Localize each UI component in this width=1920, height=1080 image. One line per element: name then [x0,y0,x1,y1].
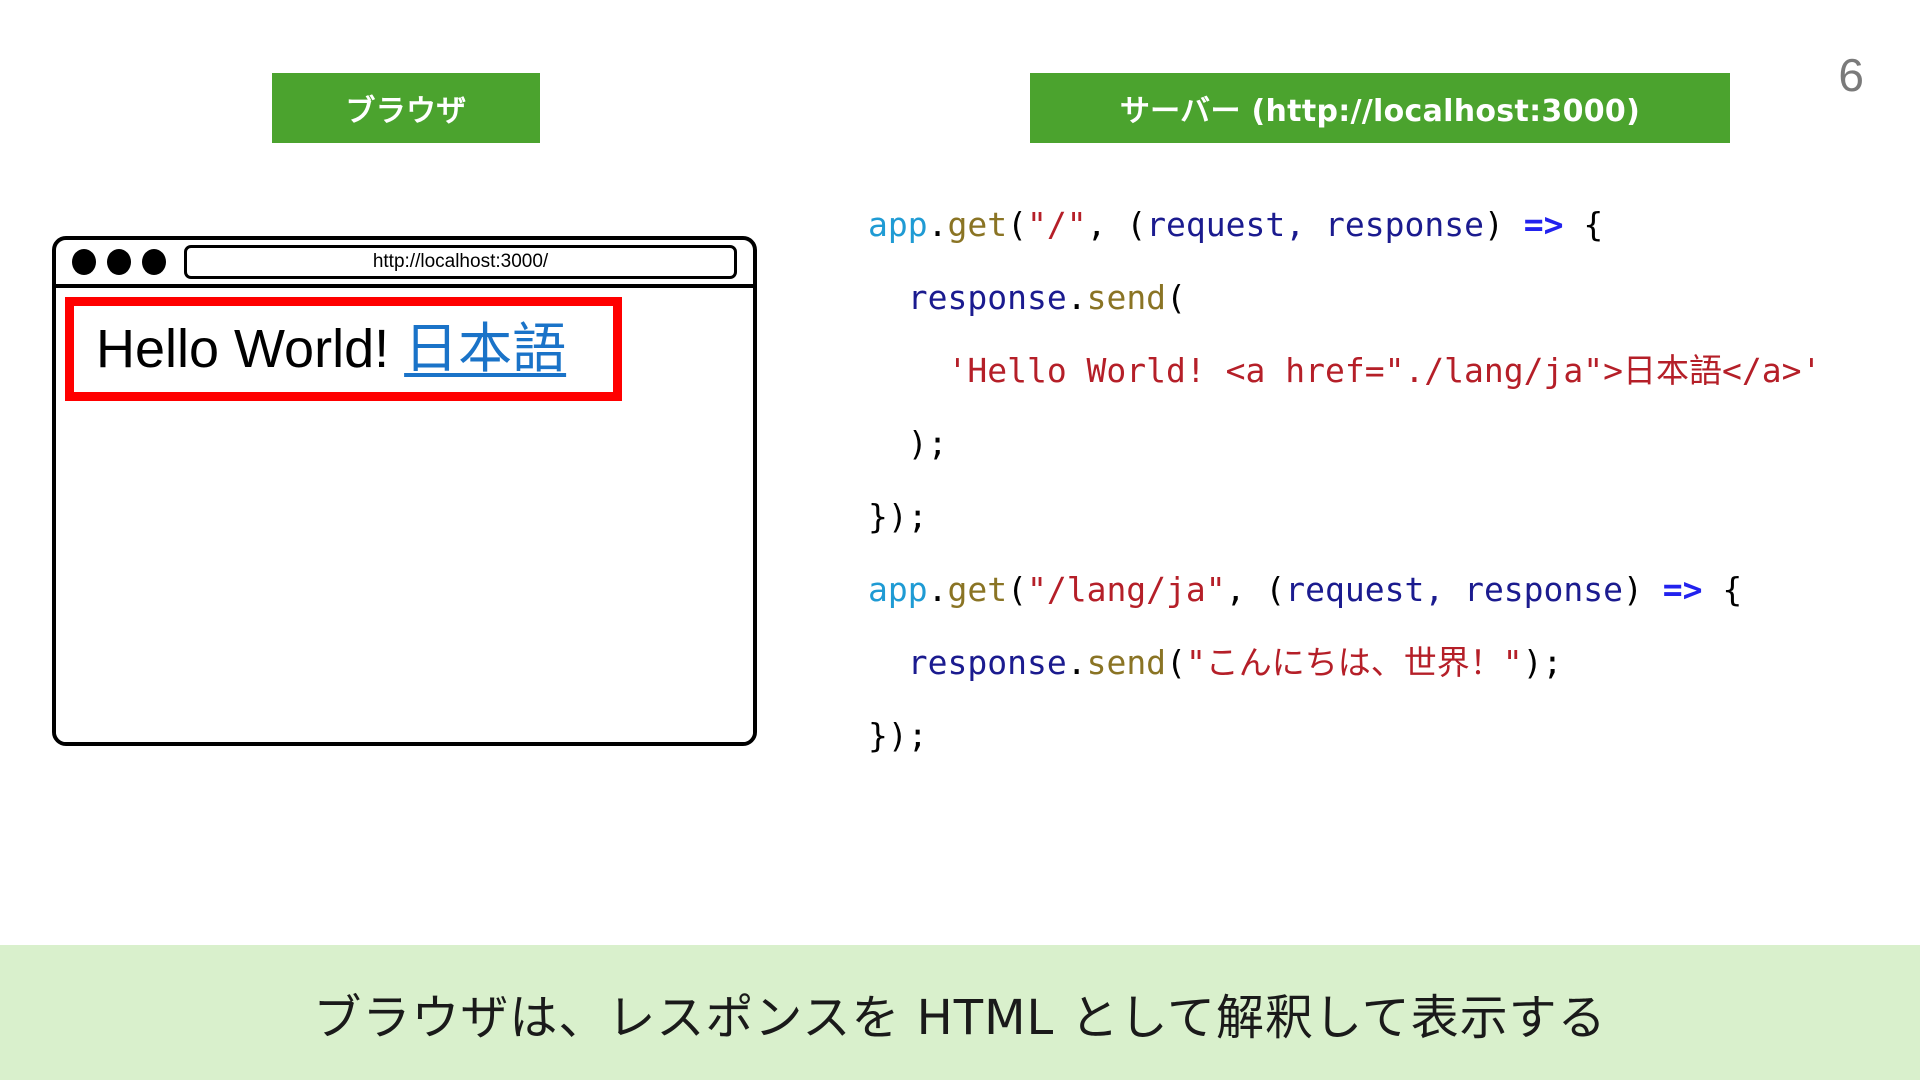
code-line: app.get("/lang/ja", (request, response) … [868,553,1821,626]
code-token-str: "こんにちは、世界！" [1186,643,1523,682]
code-token-obj: app [868,570,928,609]
code-token-param: response [908,278,1067,317]
code-line: response.send( [868,261,1821,334]
code-token-punc: ( [1166,278,1186,317]
rendered-page-content: Hello World! 日本語 [96,322,566,376]
code-token-punc: ( [1166,643,1186,682]
caption-band: ブラウザは、レスポンスを HTML として解釈して表示する [0,945,1920,1080]
code-token-fn: send [1087,278,1166,317]
code-indent [868,278,908,317]
code-line: }); [868,480,1821,553]
server-code-block: app.get("/", (request, response) => { re… [868,188,1821,772]
code-token-punc: { [1703,570,1743,609]
code-token-str: "/lang/ja" [1027,570,1226,609]
browser-section-chip: ブラウザ [272,73,540,143]
code-token-dot: . [1067,278,1087,317]
code-token-str: 'Hello World! <a href="./lang/ja">日本語</a… [947,351,1821,390]
code-token-str: "/" [1027,205,1087,244]
maximize-dot-icon[interactable] [142,249,166,275]
minimize-dot-icon[interactable] [107,249,131,275]
close-dot-icon[interactable] [72,249,96,275]
code-token-dot: . [1067,643,1087,682]
code-line: app.get("/", (request, response) => { [868,188,1821,261]
browser-viewport: Hello World! 日本語 [56,288,753,746]
rendered-text: Hello World! [96,319,404,379]
window-control-dots [72,249,166,275]
server-section-chip: サーバー (http://localhost:3000) [1030,73,1730,143]
code-token-punc: ); [908,424,948,463]
code-indent [868,424,908,463]
code-line: 'Hello World! <a href="./lang/ja">日本語</a… [868,334,1821,407]
code-token-punc: ); [1523,643,1563,682]
code-token-param: response [908,643,1067,682]
code-token-punc: , ( [1087,205,1147,244]
page-number: 6 [1838,52,1864,98]
code-token-punc: }); [868,497,928,536]
code-token-arrow: => [1663,570,1703,609]
code-token-arrow: => [1524,205,1564,244]
rendered-anchor-link[interactable]: 日本語 [404,317,566,380]
code-indent [868,351,947,390]
code-token-fn: get [947,570,1007,609]
code-token-dot: . [928,205,948,244]
address-bar-value: http://localhost:3000/ [373,251,548,273]
code-token-punc: ( [1007,205,1027,244]
browser-window-mockup: http://localhost:3000/ Hello World! 日本語 [52,236,757,746]
code-token-punc: ) [1623,570,1663,609]
code-token-obj: app [868,205,928,244]
rendered-output-highlight: Hello World! 日本語 [65,297,622,401]
code-token-punc: ) [1484,205,1524,244]
code-token-punc: , ( [1226,570,1286,609]
code-indent [868,643,908,682]
browser-titlebar: http://localhost:3000/ [56,240,753,288]
code-token-dot: . [928,570,948,609]
code-token-punc: { [1563,205,1603,244]
code-token-fn: send [1087,643,1166,682]
code-token-punc: }); [868,716,928,755]
browser-section-label: ブラウザ [345,86,466,130]
code-token-param: request, response [1146,205,1484,244]
caption-text: ブラウザは、レスポンスを HTML として解釈して表示する [313,978,1606,1048]
server-section-label: サーバー (http://localhost:3000) [1120,86,1640,130]
code-token-fn: get [947,205,1007,244]
code-line: }); [868,699,1821,772]
code-line: response.send("こんにちは、世界！"); [868,626,1821,699]
code-token-punc: ( [1007,570,1027,609]
address-bar[interactable]: http://localhost:3000/ [184,245,737,279]
code-token-param: request, response [1285,570,1623,609]
code-line: ); [868,407,1821,480]
